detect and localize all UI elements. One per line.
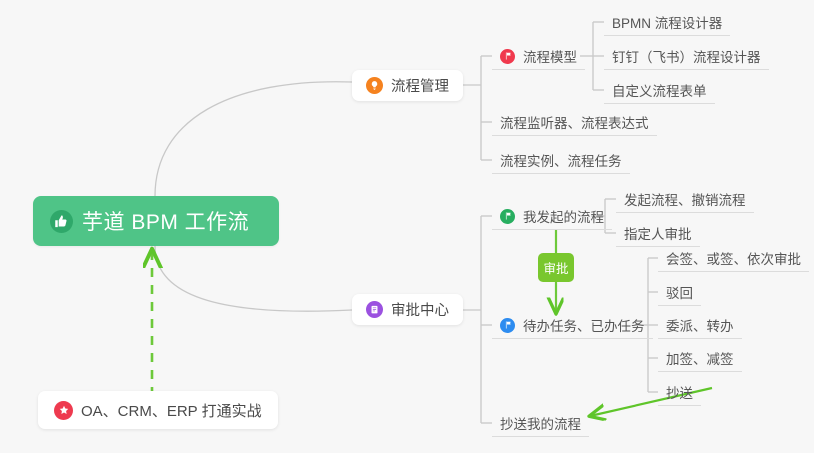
clipboard-icon (366, 301, 383, 318)
leaf-assignee-approval[interactable]: 指定人审批 (616, 220, 700, 247)
mindmap-canvas: 芋道 BPM 工作流 流程管理 流程模型 BPMN 流程设计器 钉钉（飞书）流程… (0, 0, 814, 453)
root-node[interactable]: 芋道 BPM 工作流 (33, 196, 279, 246)
leaf-reject-label: 驳回 (666, 282, 693, 302)
approval-annotation-chip: 审批 (538, 253, 574, 282)
flag-icon (500, 209, 515, 224)
node-bottom-note-label: OA、CRM、ERP 打通实战 (81, 400, 262, 421)
node-cc-to-me-label: 抄送我的流程 (500, 413, 581, 433)
node-process-management-label: 流程管理 (391, 75, 449, 96)
node-process-management[interactable]: 流程管理 (352, 70, 463, 101)
connector-root-to-approval-center (155, 246, 352, 311)
leaf-dingtalk-feishu-designer-label: 钉钉（飞书）流程设计器 (612, 46, 761, 66)
leaf-add-remove-sign-label: 加签、减签 (666, 348, 734, 368)
connector-root-to-process-management (155, 82, 352, 196)
leaf-cc[interactable]: 抄送 (658, 379, 701, 406)
node-cc-to-me[interactable]: 抄送我的流程 (492, 410, 589, 437)
node-todo-done-tasks[interactable]: 待办任务、已办任务 (492, 312, 653, 339)
node-process-listener[interactable]: 流程监听器、流程表达式 (492, 109, 657, 136)
leaf-start-cancel-process-label: 发起流程、撤销流程 (624, 189, 746, 209)
node-process-model-label: 流程模型 (523, 46, 577, 66)
leaf-assignee-approval-label: 指定人审批 (624, 223, 692, 243)
flag-icon (500, 318, 515, 333)
leaf-delegate-transfer-label: 委派、转办 (666, 315, 734, 335)
node-process-instance[interactable]: 流程实例、流程任务 (492, 147, 630, 174)
node-approval-center-label: 审批中心 (391, 299, 449, 320)
leaf-delegate-transfer[interactable]: 委派、转办 (658, 312, 742, 339)
leaf-custom-process-form[interactable]: 自定义流程表单 (604, 77, 715, 104)
leaf-reject[interactable]: 驳回 (658, 279, 701, 306)
leaf-add-remove-sign[interactable]: 加签、减签 (658, 345, 742, 372)
leaf-start-cancel-process[interactable]: 发起流程、撤销流程 (616, 186, 754, 213)
approval-annotation-chip-label: 审批 (543, 258, 568, 277)
leaf-countersign-orsign-sequential[interactable]: 会签、或签、依次审批 (658, 245, 809, 272)
node-bottom-note[interactable]: OA、CRM、ERP 打通实战 (38, 391, 278, 429)
node-approval-center[interactable]: 审批中心 (352, 294, 463, 325)
leaf-dingtalk-feishu-designer[interactable]: 钉钉（飞书）流程设计器 (604, 43, 769, 70)
thumbs-up-icon (50, 210, 73, 233)
star-icon (54, 401, 73, 420)
flag-icon (500, 49, 515, 64)
lightbulb-icon (366, 77, 383, 94)
leaf-bpmn-designer-label: BPMN 流程设计器 (612, 12, 722, 32)
node-process-model[interactable]: 流程模型 (492, 43, 585, 70)
leaf-countersign-orsign-sequential-label: 会签、或签、依次审批 (666, 248, 801, 268)
leaf-custom-process-form-label: 自定义流程表单 (612, 80, 707, 100)
node-process-instance-label: 流程实例、流程任务 (500, 150, 622, 170)
leaf-cc-label: 抄送 (666, 382, 693, 402)
node-my-started-process[interactable]: 我发起的流程 (492, 203, 612, 230)
root-label: 芋道 BPM 工作流 (82, 206, 249, 236)
node-process-listener-label: 流程监听器、流程表达式 (500, 112, 649, 132)
node-todo-done-tasks-label: 待办任务、已办任务 (523, 315, 645, 335)
leaf-bpmn-designer[interactable]: BPMN 流程设计器 (604, 9, 730, 36)
node-my-started-process-label: 我发起的流程 (523, 206, 604, 226)
